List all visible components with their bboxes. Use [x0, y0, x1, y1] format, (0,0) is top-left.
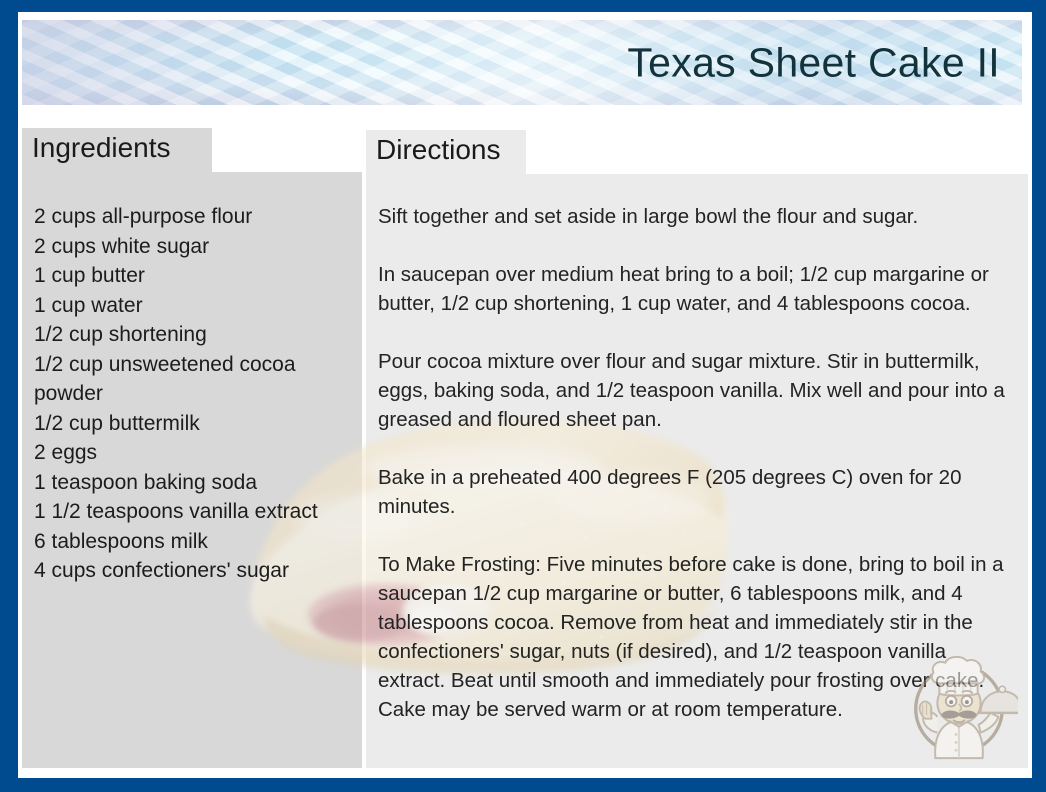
header-banner: Texas Sheet Cake II	[22, 20, 1022, 105]
ingredient-item: 1 cup water	[34, 291, 350, 321]
recipe-title: Texas Sheet Cake II	[627, 39, 1000, 86]
direction-step: Bake in a preheated 400 degrees F (205 d…	[378, 463, 1006, 521]
ingredient-item: 2 cups white sugar	[34, 232, 350, 262]
directions-panel: Sift together and set aside in large bow…	[366, 174, 1028, 768]
ingredient-item: 1/2 cup buttermilk	[34, 409, 350, 439]
ingredients-panel: 2 cups all-purpose flour2 cups white sug…	[22, 172, 362, 768]
ingredient-item: 1/2 cup unsweetened cocoa powder	[34, 350, 350, 409]
directions-section-heading: Directions	[366, 130, 526, 174]
ingredient-item: 1 teaspoon baking soda	[34, 468, 350, 498]
ingredient-item: 1 cup butter	[34, 261, 350, 291]
ingredients-section-heading: Ingredients	[22, 128, 212, 172]
direction-step: Sift together and set aside in large bow…	[378, 202, 1006, 231]
ingredient-item: 6 tablespoons milk	[34, 527, 350, 557]
recipe-card-inner: Texas Sheet Cake II Ingredients Directio…	[18, 12, 1032, 778]
ingredients-list: 2 cups all-purpose flour2 cups white sug…	[34, 202, 350, 586]
ingredient-item: 1 1/2 teaspoons vanilla extract	[34, 497, 350, 527]
direction-step: Pour cocoa mixture over flour and sugar …	[378, 347, 1006, 434]
recipe-card: Texas Sheet Cake II Ingredients Directio…	[0, 0, 1046, 792]
ingredient-item: 2 eggs	[34, 438, 350, 468]
ingredient-item: 1/2 cup shortening	[34, 320, 350, 350]
directions-list: Sift together and set aside in large bow…	[378, 202, 1006, 724]
ingredient-item: 4 cups confectioners' sugar	[34, 556, 350, 586]
direction-step: In saucepan over medium heat bring to a …	[378, 260, 1006, 318]
ingredient-item: 2 cups all-purpose flour	[34, 202, 350, 232]
direction-step: To Make Frosting: Five minutes before ca…	[378, 550, 1006, 724]
